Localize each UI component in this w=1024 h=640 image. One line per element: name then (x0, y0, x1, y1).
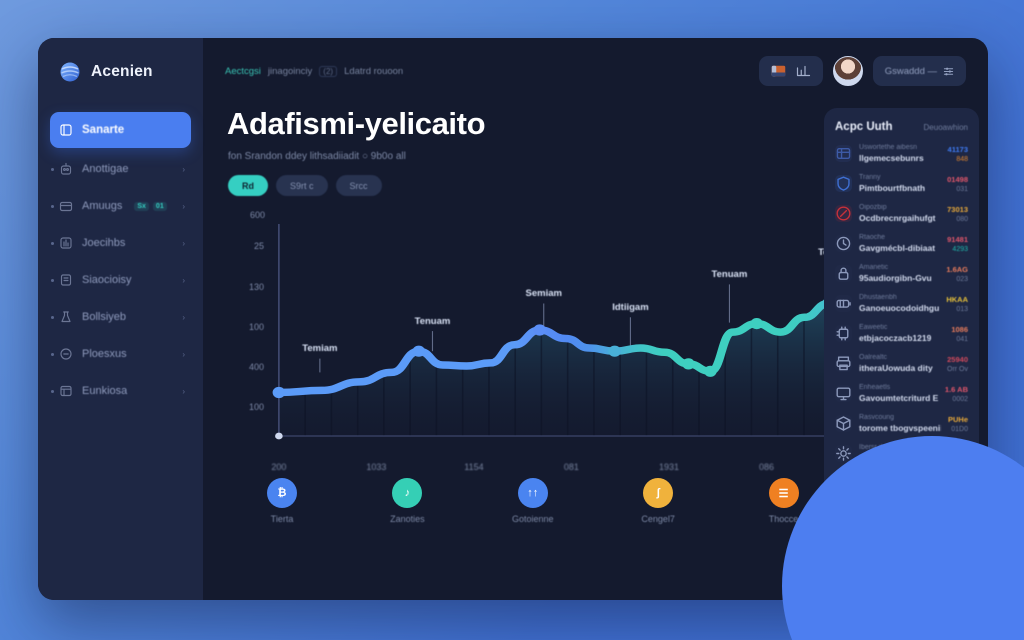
sidebar-nav: SanarteAnottigae›AmuugsSx01›Joecihbs›Sia… (50, 112, 191, 407)
sidebar-item-dot (51, 168, 54, 171)
activity-row-subvalue: 01D0 (948, 426, 968, 433)
chevron-right-icon: › (182, 276, 185, 285)
avatar[interactable] (833, 56, 863, 86)
filter-pill-srcc[interactable]: Srcc (336, 175, 382, 196)
activity-row-subvalue: 023 (946, 276, 968, 283)
sidebar-item-dot (51, 205, 54, 208)
y-axis-top-label: 600 (229, 210, 285, 220)
topbar-actions: Gswaddd — (759, 56, 966, 86)
brand-name: Acenien (91, 63, 153, 81)
activity-row-title: Rasvcoung (859, 414, 941, 421)
printer-icon (835, 355, 852, 372)
x-axis-tick-label: 1033 (366, 462, 386, 472)
activity-row-title: Tranny (859, 174, 940, 181)
stats-bars-icon[interactable] (796, 65, 811, 77)
activity-panel-action[interactable]: Deuoawhion (924, 123, 968, 132)
sidebar-item-label: Joecihbs (82, 237, 125, 249)
activity-row-subvalue: 080 (947, 216, 968, 223)
activity-row-values: PUHe01D0 (948, 415, 968, 433)
chevron-right-icon: › (182, 239, 185, 248)
chart-annotation: Temiam (302, 343, 337, 354)
sidebar: Acenien SanarteAnottigae›AmuugsSx01›Joec… (38, 38, 203, 600)
stat-label: Cengel7 (641, 514, 675, 524)
sidebar-item-dot (51, 242, 54, 245)
chart-annotation: Tenuam (415, 316, 451, 327)
activity-row-values: 1086041 (951, 325, 968, 343)
activity-row-value: 91481 (947, 235, 968, 244)
x-axis-tick-label: 1931 (659, 462, 679, 472)
window-icon (59, 384, 73, 398)
activity-row[interactable]: DhustaenbhGanoeuocodoidhguHKAA013 (835, 294, 968, 313)
stat-label: Thocce (769, 514, 799, 524)
activity-row-values: HKAA013 (946, 295, 968, 313)
activity-row-values: 41173848 (948, 145, 968, 163)
activity-row-subvalue: Orr Ov (947, 366, 968, 373)
activity-row-values: 25940Orr Ov (947, 355, 968, 373)
activity-row-subvalue: 013 (946, 306, 968, 313)
sidebar-item-siaocioisy[interactable]: Siaocioisy› (50, 264, 191, 296)
activity-row[interactable]: EnheaetlsGavoumtetcriturd Ebvlb1.6 AB000… (835, 384, 968, 403)
activity-row-title: Uswortethe aibesn (859, 144, 941, 151)
chevron-right-icon: › (182, 313, 185, 322)
activity-row-value: 1086 (951, 325, 968, 334)
layers-icon[interactable]: ☰ (769, 478, 799, 508)
activity-row[interactable]: Rasvcoungtorome tbogvspeeniibPUHe01D0 (835, 414, 968, 433)
sidebar-item-label: Bollsiyeb (82, 311, 126, 323)
activity-row-values: 914814293 (947, 235, 968, 253)
robot-icon (59, 162, 73, 176)
activity-row-title: Oalrealtc (859, 354, 940, 361)
stat-shortcut[interactable]: ↑↑Gotoienne (502, 478, 564, 524)
x-axis-tick-label: 200 (271, 462, 286, 472)
activity-row-text: Rasvcoungtorome tbogvspeeniib (859, 414, 941, 433)
sidebar-item-eunkiosa[interactable]: Eunkiosa› (50, 375, 191, 407)
activity-row[interactable]: Amanetic95audiorgibn-Gvu1.6AG023 (835, 264, 968, 283)
monitor-icon (835, 385, 852, 402)
chevron-right-icon: › (182, 165, 185, 174)
activity-row-text: Eaweeticetbjacoczacb1219 (859, 324, 944, 343)
chevron-right-icon: › (182, 202, 185, 211)
activity-row[interactable]: Uswortethe aibesnllgemecsebunrs41173848 (835, 144, 968, 163)
archive-icon (835, 145, 852, 162)
x-axis-tick-label: 086 (759, 462, 774, 472)
package-icon (835, 415, 852, 432)
sidebar-item-label: Sanarte (82, 124, 124, 136)
sidebar-badge: 01 (153, 202, 167, 211)
activity-row-value: 01498 (947, 175, 968, 184)
sidebar-item-dot (51, 316, 54, 319)
activity-row-subtitle: Gavoumtetcriturd Ebvlb (859, 393, 938, 403)
note-icon[interactable]: ♪ (392, 478, 422, 508)
activity-row-subtitle: Pimtbourtfbnath (859, 183, 940, 193)
activity-row-text: TrannyPimtbourtfbnath (859, 174, 940, 193)
filter-pill-rd[interactable]: Rd (228, 175, 268, 196)
activity-row-values: 01498031 (947, 175, 968, 193)
sidebar-item-bollsiyeb[interactable]: Bollsiyeb› (50, 301, 191, 333)
activity-row-subvalue: 848 (948, 156, 968, 163)
y-axis-tick-label: 25 (234, 241, 264, 251)
activity-row-subvalue: 4293 (947, 246, 968, 253)
clock-icon (835, 235, 852, 252)
activity-row-text: OipozbipOcdbrecnrgaihufgt (859, 204, 940, 223)
activity-row-text: DhustaenbhGanoeuocodoidhgu (859, 294, 939, 313)
sidebar-item-label: Ploesxus (82, 348, 127, 360)
stat-label: Gotoienne (512, 514, 554, 524)
activity-row[interactable]: OipozbipOcdbrecnrgaihufgt73013080 (835, 204, 968, 223)
breadcrumb-segment[interactable]: (2) (319, 66, 337, 77)
image-thumb-icon[interactable] (771, 65, 786, 77)
shield-icon (835, 175, 852, 192)
activity-row[interactable]: RtaocheGavgmécbl-dibiaat914814293 (835, 234, 968, 253)
activity-row-subtitle: torome tbogvspeeniib (859, 423, 941, 433)
activity-row-value: PUHe (948, 415, 968, 424)
activity-row-subvalue: 0002 (945, 396, 968, 403)
topbar: Aectcgsijinagoinciy(2)Ldatrd rouoon Gswa… (225, 58, 966, 84)
filter-pill-s9rt-c[interactable]: S9rt c (276, 175, 328, 196)
card-icon (59, 199, 73, 213)
breadcrumb-segment[interactable]: jinagoinciy (268, 66, 312, 77)
activity-row-subtitle: Gavgmécbl-dibiaat (859, 243, 940, 253)
y-axis-tick-label: 130 (234, 282, 264, 292)
activity-row-title: Amanetic (859, 264, 939, 271)
activity-row-title: Eaweetic (859, 324, 944, 331)
activity-row-subtitle: llgemecsebunrs (859, 153, 941, 163)
activity-row-subtitle: Ocdbrecnrgaihufgt (859, 213, 940, 223)
stat-label: Tierta (271, 514, 294, 524)
book-icon (59, 273, 73, 287)
flask-icon (59, 310, 73, 324)
sidebar-item-dot (51, 353, 54, 356)
activity-panel-header: Acpc Uuth Deuoawhion (835, 121, 968, 133)
sidebar-item-dot (51, 279, 54, 282)
chevron-right-icon: › (182, 350, 185, 359)
sidebar-item-sanarte[interactable]: Sanarte (50, 112, 191, 148)
user-menu-pill[interactable]: Gswaddd — (873, 56, 966, 86)
chart-annotation: Semiam (526, 288, 562, 299)
sidebar-item-label: Anottigae (82, 163, 128, 175)
sidebar-item-ploesxus[interactable]: Ploesxus› (50, 338, 191, 370)
user-menu-label: Gswaddd — (885, 66, 937, 77)
chevron-right-icon: › (182, 387, 185, 396)
sidebar-item-label: Eunkiosa (82, 385, 127, 397)
activity-panel-title: Acpc Uuth (835, 121, 893, 133)
alert-icon (835, 205, 852, 222)
sidebar-item-badges: Sx01 (134, 202, 166, 211)
stat-shortcut[interactable]: ♪Zanoties (376, 478, 438, 524)
coin-icon[interactable]: ₿ (267, 478, 297, 508)
chip-icon (835, 325, 852, 342)
y-axis-tick-label: 100 (234, 402, 264, 412)
activity-row[interactable]: OalrealtcitheraUowuda dity25940Orr Ov (835, 354, 968, 373)
y-axis-tick-label: 400 (234, 362, 264, 372)
y-axis-tick-label: 100 (234, 322, 264, 332)
chart-annotation: Tenuam (712, 269, 748, 280)
activity-row-title: Oipozbip (859, 204, 940, 211)
activity-row[interactable]: Eaweeticetbjacoczacb12191086041 (835, 324, 968, 343)
chart-icon (59, 236, 73, 250)
dashboard-icon (59, 123, 73, 137)
chart-annotation: Idtiigam (612, 302, 648, 313)
battery-icon (835, 295, 852, 312)
x-axis-tick-label: 1154 (464, 462, 483, 472)
sliders-icon (943, 66, 954, 77)
activity-row-value: 25940 (947, 355, 968, 364)
sidebar-item-amuugs[interactable]: AmuugsSx01› (50, 190, 191, 222)
activity-row-value: HKAA (946, 295, 968, 304)
activity-row-subtitle: itheraUowuda dity (859, 363, 940, 373)
activity-row-text: EnheaetlsGavoumtetcriturd Ebvlb (859, 384, 938, 403)
activity-row-title: Rtaoche (859, 234, 940, 241)
breadcrumb-segment[interactable]: Ldatrd rouoon (344, 66, 403, 77)
sidebar-badge: Sx (134, 202, 149, 211)
activity-list: Uswortethe aibesnllgemecsebunrs41173848T… (835, 144, 968, 463)
activity-row-text: Amanetic95audiorgibn-Gvu (859, 264, 939, 283)
activity-row-value: 73013 (947, 205, 968, 214)
activity-row-title: Enheaetls (859, 384, 938, 391)
sidebar-item-label: Amuugs (82, 200, 122, 212)
activity-row-value: 1.6AG (946, 265, 968, 274)
activity-row-text: RtaocheGavgmécbl-dibiaat (859, 234, 940, 253)
brand[interactable]: Acenien (50, 60, 191, 84)
stat-label: Zanoties (390, 514, 425, 524)
activity-row-value: 1.6 AB (945, 385, 968, 394)
activity-row-value: 41173 (948, 145, 968, 154)
stat-shortcut[interactable]: ₿Tierta (251, 478, 313, 524)
sidebar-item-anottigae[interactable]: Anottigae› (50, 153, 191, 185)
bolt-icon[interactable]: ʃ (643, 478, 673, 508)
breadcrumb[interactable]: Aectcgsijinagoinciy(2)Ldatrd rouoon (225, 66, 403, 77)
activity-row-text: OalrealtcitheraUowuda dity (859, 354, 940, 373)
sidebar-item-joecihbs[interactable]: Joecihbs› (50, 227, 191, 259)
activity-row-values: 1.6AG023 (946, 265, 968, 283)
activity-row-subvalue: 031 (947, 186, 968, 193)
toolbar-icon-pill[interactable] (759, 56, 823, 86)
activity-row-values: 73013080 (947, 205, 968, 223)
sidebar-item-dot (51, 390, 54, 393)
lock-icon (835, 265, 852, 282)
activity-row[interactable]: TrannyPimtbourtfbnath01498031 (835, 174, 968, 193)
activity-row-title: Dhustaenbh (859, 294, 939, 301)
arrows-icon[interactable]: ↑↑ (518, 478, 548, 508)
activity-row-subtitle: etbjacoczacb1219 (859, 333, 944, 343)
sidebar-item-label: Siaocioisy (82, 274, 132, 286)
stat-shortcut[interactable]: ʃCengel7 (627, 478, 689, 524)
breadcrumb-segment[interactable]: Aectcgsi (225, 66, 261, 77)
activity-row-subvalue: 041 (951, 336, 968, 343)
activity-row-subtitle: 95audiorgibn-Gvu (859, 273, 939, 283)
activity-row-subtitle: Ganoeuocodoidhgu (859, 303, 939, 313)
globe-logo-icon (58, 60, 82, 84)
x-axis-tick-label: 081 (564, 462, 579, 472)
minus-circle-icon (59, 347, 73, 361)
activity-row-values: 1.6 AB0002 (945, 385, 968, 403)
activity-row-text: Uswortethe aibesnllgemecsebunrs (859, 144, 941, 163)
